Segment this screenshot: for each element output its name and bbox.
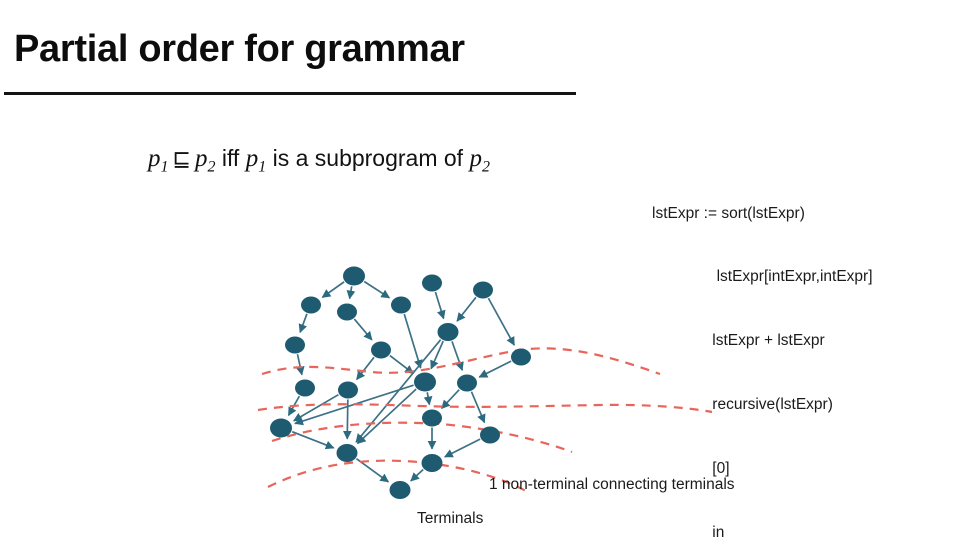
slide-root: Partial order for grammar p1⊑p2 iff p1 i… bbox=[0, 0, 960, 540]
caption-nonterminal: 1 non-terminal connecting terminals bbox=[489, 476, 735, 494]
dag-node bbox=[391, 297, 411, 314]
dag-edge bbox=[364, 282, 389, 298]
dag-edge bbox=[442, 390, 460, 409]
dag-node bbox=[285, 337, 305, 354]
dag-node bbox=[295, 380, 315, 397]
dag-edge bbox=[452, 341, 462, 370]
dag-diagram bbox=[0, 0, 960, 540]
dag-edge bbox=[354, 319, 372, 340]
terminal-boundary-curve bbox=[272, 423, 572, 452]
dag-edge bbox=[357, 357, 374, 379]
dag-node bbox=[511, 349, 531, 366]
dag-edge bbox=[292, 432, 333, 448]
terminal-boundary-curve bbox=[258, 404, 712, 412]
dag-edge bbox=[404, 314, 420, 368]
dag-node bbox=[337, 304, 357, 321]
dag-edge bbox=[479, 361, 511, 377]
dag-node bbox=[438, 323, 459, 341]
dag-edge bbox=[411, 469, 423, 480]
dag-node bbox=[414, 373, 436, 392]
dag-edge bbox=[427, 392, 429, 404]
dag-edge bbox=[431, 341, 443, 369]
dag-edge bbox=[488, 298, 514, 345]
dag-node bbox=[457, 375, 477, 392]
dag-node bbox=[422, 275, 442, 292]
dag-edge bbox=[445, 439, 480, 457]
dag-node bbox=[390, 481, 411, 499]
dag-edge bbox=[300, 314, 307, 332]
dag-node bbox=[270, 419, 292, 438]
dag-node bbox=[338, 382, 358, 399]
dag-node bbox=[422, 454, 443, 472]
dag-edge bbox=[297, 354, 301, 374]
terminal-boundary-layer bbox=[258, 348, 712, 492]
dag-node bbox=[480, 427, 500, 444]
caption-terminals: Terminals bbox=[417, 510, 483, 528]
dag-node-layer bbox=[270, 267, 531, 500]
dag-edge bbox=[322, 282, 344, 297]
dag-edge bbox=[435, 292, 443, 318]
dag-node bbox=[301, 297, 321, 314]
dag-edge bbox=[358, 389, 417, 443]
dag-node bbox=[343, 267, 365, 286]
dag-node bbox=[371, 342, 391, 359]
dag-edge bbox=[350, 286, 352, 298]
dag-node bbox=[337, 444, 358, 462]
dag-node bbox=[422, 410, 442, 427]
terminal-boundary-curve bbox=[262, 348, 660, 374]
dag-node bbox=[473, 282, 493, 299]
dag-edge bbox=[457, 297, 476, 321]
dag-edge bbox=[347, 399, 348, 438]
